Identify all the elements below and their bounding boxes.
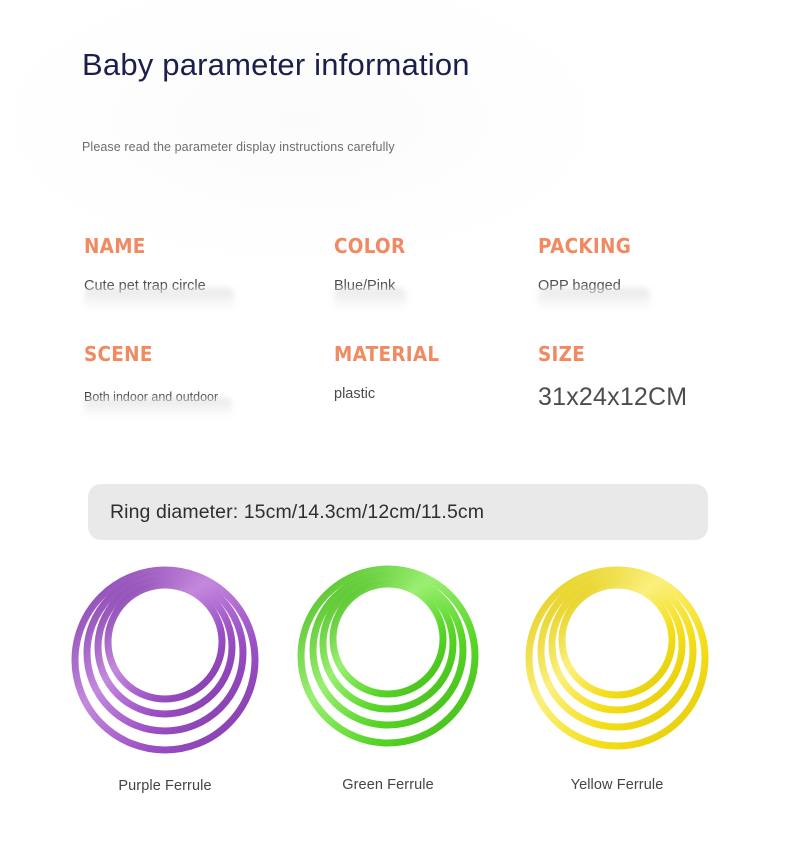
page-title: Baby parameter information — [82, 47, 470, 83]
yellow-ferrule-rings — [525, 556, 710, 756]
spec-item-color: COLOR Blue/Pink — [334, 236, 412, 295]
spec-item-name: NAME Cute pet trap circle — [84, 236, 206, 295]
spec-row: NAME Cute pet trap circle COLOR Blue/Pin… — [0, 236, 790, 344]
spec-value: OPP bagged — [538, 278, 639, 295]
product-parameter-page: Baby parameter information Please read t… — [0, 0, 790, 847]
ferrule-item-green[interactable]: Green Ferrule — [273, 556, 503, 793]
ferrule-label: Yellow Ferrule — [502, 777, 732, 793]
specification-grid: NAME Cute pet trap circle COLOR Blue/Pin… — [0, 236, 790, 452]
ring-diameter-text: Ring diameter: 15cm/14.3cm/12cm/11.5cm — [110, 501, 484, 524]
spec-value: Both indoor and outdoor — [84, 390, 218, 405]
spec-label: SIZE — [538, 344, 675, 364]
ferrule-item-yellow[interactable]: Yellow Ferrule — [502, 556, 732, 793]
ferrule-item-purple[interactable]: Purple Ferrule — [50, 556, 280, 794]
spec-label: SCENE — [84, 344, 207, 364]
spec-value: plastic — [334, 386, 449, 403]
spec-value: Blue/Pink — [334, 278, 412, 295]
ferrule-label: Purple Ferrule — [50, 778, 280, 794]
spec-value: 31x24x12CM — [538, 382, 687, 412]
spec-label: NAME — [84, 236, 196, 256]
spec-label: PACKING — [538, 236, 631, 256]
purple-ferrule-rings — [70, 556, 260, 756]
spec-item-size: SIZE 31x24x12CM — [538, 344, 687, 412]
spec-value: Cute pet trap circle — [84, 278, 206, 295]
green-ferrule-rings — [296, 556, 481, 751]
page-subtitle: Please read the parameter display instru… — [82, 140, 395, 154]
spec-item-packing: PACKING OPP bagged — [538, 236, 639, 295]
ferrule-gallery: Purple Ferrule — [0, 556, 790, 816]
spec-label: COLOR — [334, 236, 405, 256]
ring-diameter-banner: Ring diameter: 15cm/14.3cm/12cm/11.5cm — [88, 484, 708, 540]
spec-item-material: MATERIAL plastic — [334, 344, 449, 403]
ferrule-label: Green Ferrule — [273, 777, 503, 793]
spec-label: MATERIAL — [334, 344, 439, 364]
spec-row: SCENE Both indoor and outdoor MATERIAL p… — [0, 344, 790, 452]
spec-item-scene: SCENE Both indoor and outdoor — [84, 344, 218, 405]
